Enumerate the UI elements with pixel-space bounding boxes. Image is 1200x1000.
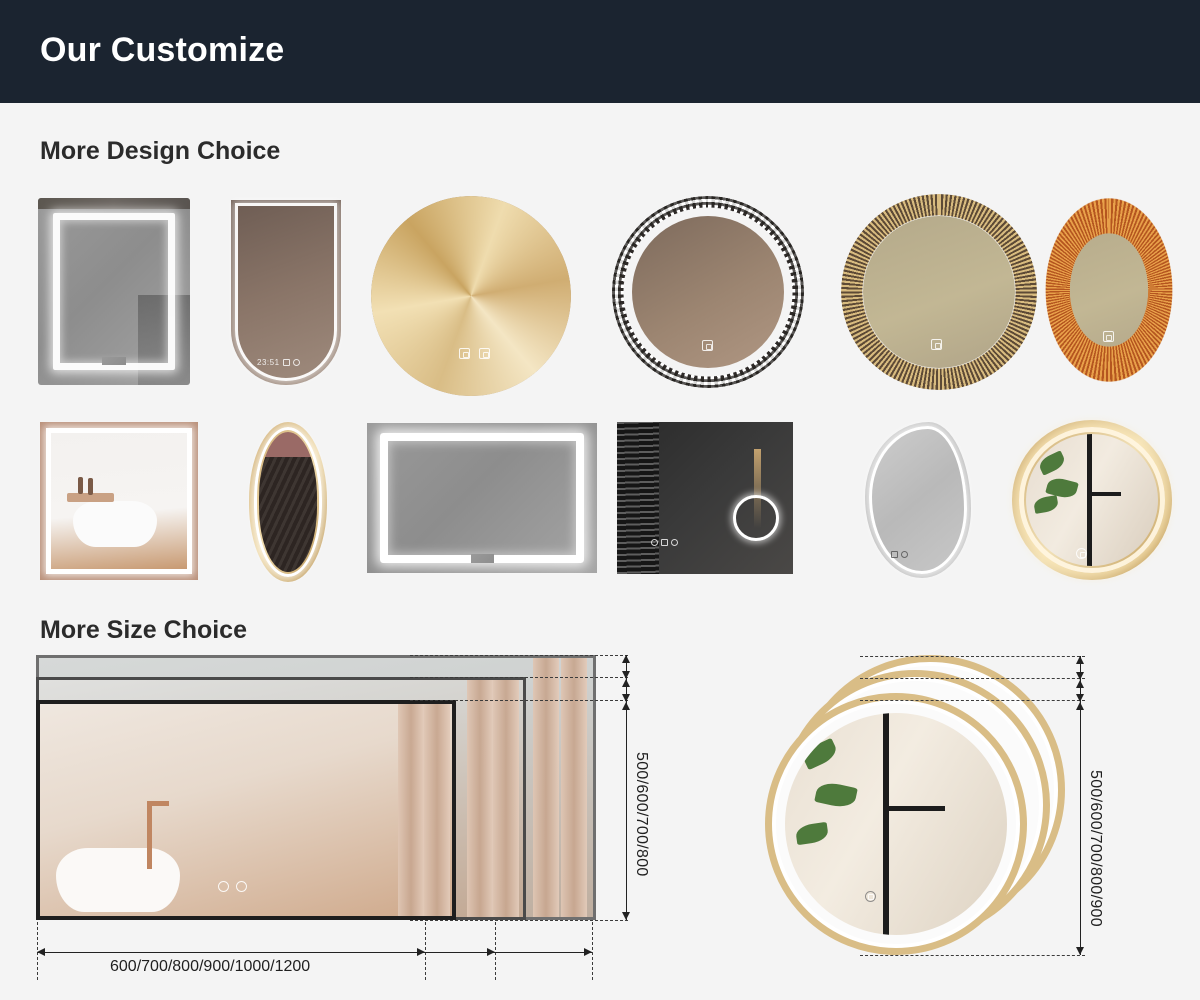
design-mirror-round-patterned[interactable]: [612, 196, 804, 388]
dim-dash-top-3-right: [860, 700, 1085, 701]
power-icon: [651, 539, 658, 546]
customize-page: Our Customize More Design Choice 23:51: [0, 0, 1200, 1000]
touch-control-icon: [459, 348, 470, 359]
dim-dash-top-2-right: [860, 678, 1085, 679]
curtain-shape: [533, 658, 559, 917]
dim-arrow-right-3: [584, 948, 592, 956]
mirror-top-strip: [38, 198, 190, 209]
curtain-shape-2: [493, 680, 519, 917]
led-strip-icon: [53, 213, 175, 370]
dim-dash-mid-2: [495, 922, 496, 980]
section-heading-size: More Size Choice: [40, 616, 247, 645]
power-icon: [218, 881, 229, 892]
settings-icon: [283, 359, 290, 366]
dim-line-height: [626, 702, 627, 920]
dim-arrow-right-1: [417, 948, 425, 956]
defog-icon: [661, 539, 668, 546]
dim-arrow-up-3: [622, 702, 630, 710]
plant-leaf: [800, 738, 839, 770]
brightness-icon: [236, 881, 247, 892]
curtain-shape-2: [561, 658, 587, 917]
mirror-clock-display: 23:51: [257, 358, 300, 367]
dim-arrow-up-r2: [1076, 680, 1084, 688]
plant-leaf-3: [795, 822, 829, 845]
dim-dash-top-1-right: [860, 656, 1085, 657]
design-mirror-round-sunburst[interactable]: [841, 194, 1037, 390]
dim-arrow-down-r1: [1076, 672, 1084, 680]
blinds-pattern: [617, 422, 659, 574]
dim-arrow-down-r2: [1076, 694, 1084, 702]
nested-mirror-small: [36, 700, 456, 920]
diameter-dimension-label: 500/600/700/800/900: [1086, 770, 1104, 927]
settings-icon: [891, 551, 898, 558]
brightness-icon: [671, 539, 678, 546]
faucet-shape: [147, 801, 152, 869]
dim-line-diameter: [1080, 702, 1081, 955]
dim-dash-mid-1: [425, 922, 426, 980]
dim-arrow-down-r3: [1076, 947, 1084, 955]
dim-arrow-up-1: [622, 655, 630, 663]
dim-dash-bottom-right: [860, 955, 1085, 956]
dim-dash-right: [592, 922, 593, 980]
dim-dash-top-3: [410, 700, 628, 701]
design-mirror-oval-copper[interactable]: [1044, 196, 1174, 384]
touch-control-icon: [1103, 331, 1114, 342]
touch-control-icon: [865, 891, 876, 902]
dim-line-width: [37, 952, 425, 953]
touch-control-icon: [1076, 548, 1087, 559]
dim-arrow-up-r1: [1076, 656, 1084, 664]
touch-control-icon: [702, 340, 713, 351]
dim-dash-bottom: [410, 920, 628, 921]
dim-arrow-up-2: [622, 679, 630, 687]
dim-dash-top-1: [410, 655, 628, 656]
dim-arrow-left-1: [37, 948, 45, 956]
copper-sunburst-frame-icon: [1044, 196, 1174, 384]
led-strip-icon: [254, 427, 322, 577]
bathtub-shape: [56, 848, 180, 912]
rectangular-size-diagram: [36, 655, 596, 920]
mirror-control-display: [651, 539, 678, 546]
dim-arrow-up-r3: [1076, 702, 1084, 710]
design-mirror-round-gold[interactable]: [371, 196, 571, 396]
section-heading-design: More Design Choice: [40, 137, 280, 166]
design-mirror-round-gold-led[interactable]: [1012, 420, 1172, 580]
design-mirror-dark-magnifier[interactable]: [617, 422, 793, 574]
design-mirror-capsule-gold[interactable]: [249, 422, 327, 582]
dim-arrow-down-2: [622, 694, 630, 702]
dim-line-width-3: [495, 952, 592, 953]
width-dimension-label: 600/700/800/900/1000/1200: [110, 958, 310, 976]
led-strip-icon: [46, 428, 192, 574]
curtain-shape: [398, 704, 424, 916]
plant-leaf-2: [814, 780, 858, 810]
design-mirror-arch-led[interactable]: 23:51: [231, 200, 341, 385]
power-icon: [293, 359, 300, 366]
page-title: Our Customize: [40, 31, 284, 70]
window-frame-horizontal: [883, 806, 945, 811]
mirror-control-display: [218, 881, 247, 892]
design-mirror-rectangular-led[interactable]: [38, 198, 190, 385]
dim-arrow-right-2: [487, 948, 495, 956]
touch-control-icon-2: [479, 348, 490, 359]
design-mirror-irregular-led[interactable]: [865, 422, 971, 578]
led-gap: [102, 357, 126, 365]
page-header: Our Customize: [0, 0, 1200, 103]
sunburst-frame-icon: [841, 194, 1037, 390]
clock-time: 23:51: [257, 358, 280, 367]
dim-arrow-down-1: [622, 671, 630, 679]
gold-frame-icon: [371, 196, 571, 396]
touch-control-icon: [931, 339, 942, 350]
window-frame-vertical: [883, 713, 889, 935]
design-mirror-wide-led[interactable]: [367, 423, 597, 573]
power-icon: [901, 551, 908, 558]
mirror-reflection-scene: [785, 713, 1007, 935]
curtain-shape: [467, 680, 493, 917]
led-strip-icon: [1019, 427, 1165, 573]
led-gap: [471, 554, 494, 563]
curtain-shape-2: [424, 704, 450, 916]
led-strip-icon: [235, 203, 337, 381]
height-dimension-label: 500/600/700/800: [632, 752, 650, 877]
nested-circle-small: [765, 693, 1027, 955]
dim-line-width-2: [425, 952, 495, 953]
pattern-frame-overlay-icon: [612, 196, 804, 388]
dim-dash-top-2: [410, 677, 628, 678]
led-strip-icon: [380, 433, 584, 563]
magnifier-icon: [733, 495, 779, 541]
mirror-control-display: [891, 551, 908, 558]
dim-arrow-down-3: [622, 912, 630, 920]
design-mirror-square-led[interactable]: [40, 422, 198, 580]
